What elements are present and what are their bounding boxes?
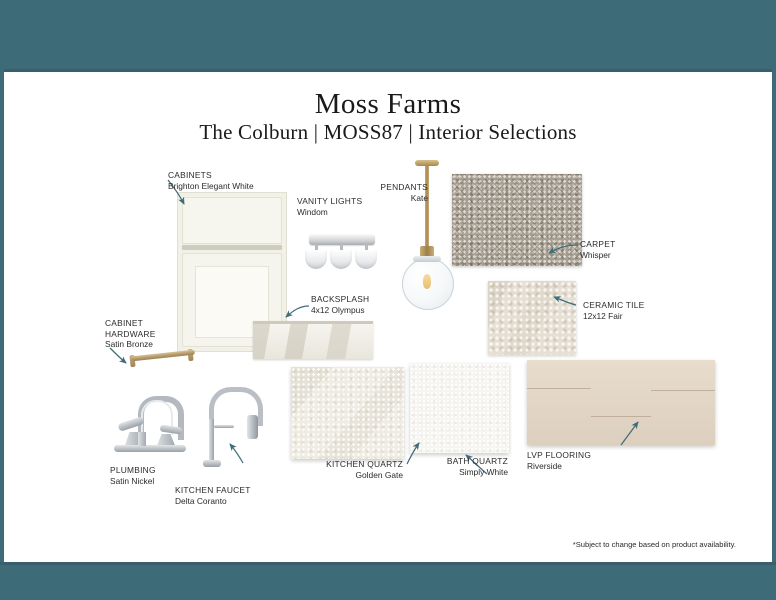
kitchen-quartz-swatch xyxy=(291,367,404,459)
label-kitchen-faucet: KITCHEN FAUCET Delta Coranto xyxy=(175,485,251,506)
page-subtitle: The Colburn | MOSS87 | Interior Selectio… xyxy=(0,120,776,145)
vanity-light-fixture xyxy=(303,228,381,273)
cabinet-reveal-gap xyxy=(182,245,282,250)
label-pendants: PENDANTS Kate xyxy=(350,182,428,203)
lvp-plank-seam xyxy=(651,390,715,391)
arrow-cabinet-hardware xyxy=(110,348,126,363)
label-carpet: CARPET Whisper xyxy=(580,239,615,260)
footer-banner-bar xyxy=(0,565,776,600)
vanity-shade-2 xyxy=(330,250,352,269)
lvp-plank-seam xyxy=(527,388,591,389)
lvp-plank-seam xyxy=(591,416,651,417)
pendant-bulb xyxy=(423,274,431,289)
disclaimer-note: *Subject to change based on product avai… xyxy=(0,540,736,549)
kitchen-faucet-image xyxy=(203,385,269,467)
page-title: Moss Farms xyxy=(0,88,776,121)
label-backsplash: BACKSPLASH 4x12 Olympus xyxy=(311,294,369,315)
label-kitchen-quartz: KITCHEN QUARTZ Golden Gate xyxy=(300,459,403,480)
bath-quartz-swatch xyxy=(410,363,509,453)
vanity-shade-3 xyxy=(355,250,377,269)
kitchen-faucet-handle xyxy=(214,425,234,428)
pull-bar xyxy=(131,350,195,362)
interior-selections-board: Moss Farms The Colburn | MOSS87 | Interi… xyxy=(0,0,776,600)
ceramic-tile-swatch xyxy=(488,281,576,355)
label-cabinets: CABINETS Brighton Elegant White xyxy=(168,170,254,191)
kitchen-faucet-base xyxy=(203,460,221,467)
backsplash-top-edge xyxy=(253,321,373,324)
backsplash-swatch xyxy=(253,321,373,359)
bath-faucet-image xyxy=(108,392,192,454)
arrow-backsplash xyxy=(286,306,309,317)
label-plumbing: PLUMBING Satin Nickel xyxy=(110,465,156,486)
bath-faucet-spout xyxy=(138,432,146,446)
header-banner-edge xyxy=(0,69,776,72)
header-banner-bar xyxy=(0,0,776,69)
lvp-flooring-swatch xyxy=(527,360,715,445)
pendant-rod xyxy=(425,166,429,248)
pendant-collar xyxy=(413,256,441,262)
label-ceramic-tile: CERAMIC TILE 12x12 Fair xyxy=(583,300,644,321)
label-cabinet-hardware: CABINET HARDWARE Satin Bronze xyxy=(105,318,156,350)
bath-faucet-deck-plate xyxy=(114,445,186,452)
carpet-swatch xyxy=(452,174,582,266)
label-lvp-flooring: LVP FLOORING Riverside xyxy=(527,450,591,471)
kitchen-faucet-sprayhead xyxy=(247,415,258,439)
cabinet-drawer-front xyxy=(182,197,282,244)
cabinet-hardware-bar-pull xyxy=(128,348,198,370)
label-bath-quartz: BATH QUARTZ Simply White xyxy=(420,456,508,477)
vanity-shade-1 xyxy=(305,250,327,269)
